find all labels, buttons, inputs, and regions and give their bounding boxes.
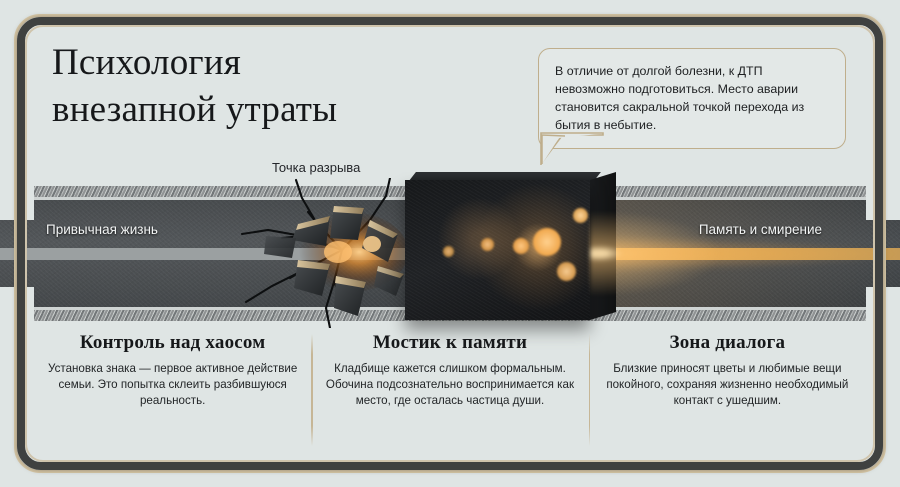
callout-text: В отличие от долгой болезни, к ДТП невоз…	[555, 62, 829, 134]
monolith-side-face	[590, 172, 616, 320]
band-label-left: Привычная жизнь	[46, 222, 158, 237]
bokeh-light	[557, 262, 576, 281]
frame-corner-mask	[866, 186, 900, 220]
bokeh-light	[513, 238, 529, 254]
breakpoint-label: Точка разрыва	[272, 160, 360, 175]
title-line-1: Психология	[52, 42, 241, 83]
monolith-front-face	[405, 180, 590, 320]
insight-columns: Контроль над хаосом Установка знака — пе…	[34, 332, 866, 456]
frame-corner-mask	[866, 287, 900, 321]
frame-corner-mask	[0, 287, 34, 321]
column-heading: Зона диалога	[603, 332, 852, 354]
bokeh-light	[573, 208, 588, 223]
column-body: Установка знака — первое активное действ…	[48, 361, 297, 408]
column-body: Кладбище кажется слишком формальным. Обо…	[325, 361, 574, 408]
frame-corner-mask	[0, 186, 34, 220]
column-heading: Мостик к памяти	[325, 332, 574, 354]
bokeh-light	[533, 228, 561, 256]
bokeh-light	[481, 238, 494, 251]
title-line-2: внезапной утраты	[52, 87, 482, 134]
insight-column-1: Контроль над хаосом Установка знака — пе…	[34, 332, 311, 456]
granite-monolith	[405, 172, 630, 324]
column-body: Близкие приносят цветы и любимые вещи по…	[603, 361, 852, 408]
insight-column-2: Мостик к памяти Кладбище кажется слишком…	[311, 332, 588, 456]
infographic-canvas: Психология внезапной утраты В отличие от…	[0, 0, 900, 487]
bokeh-light	[443, 246, 454, 257]
page-title: Психология внезапной утраты	[52, 40, 482, 133]
insight-column-3: Зона диалога Близкие приносят цветы и лю…	[589, 332, 866, 456]
band-label-right: Память и смирение	[699, 222, 822, 237]
column-heading: Контроль над хаосом	[48, 332, 297, 354]
callout-tail-icon	[539, 131, 605, 167]
